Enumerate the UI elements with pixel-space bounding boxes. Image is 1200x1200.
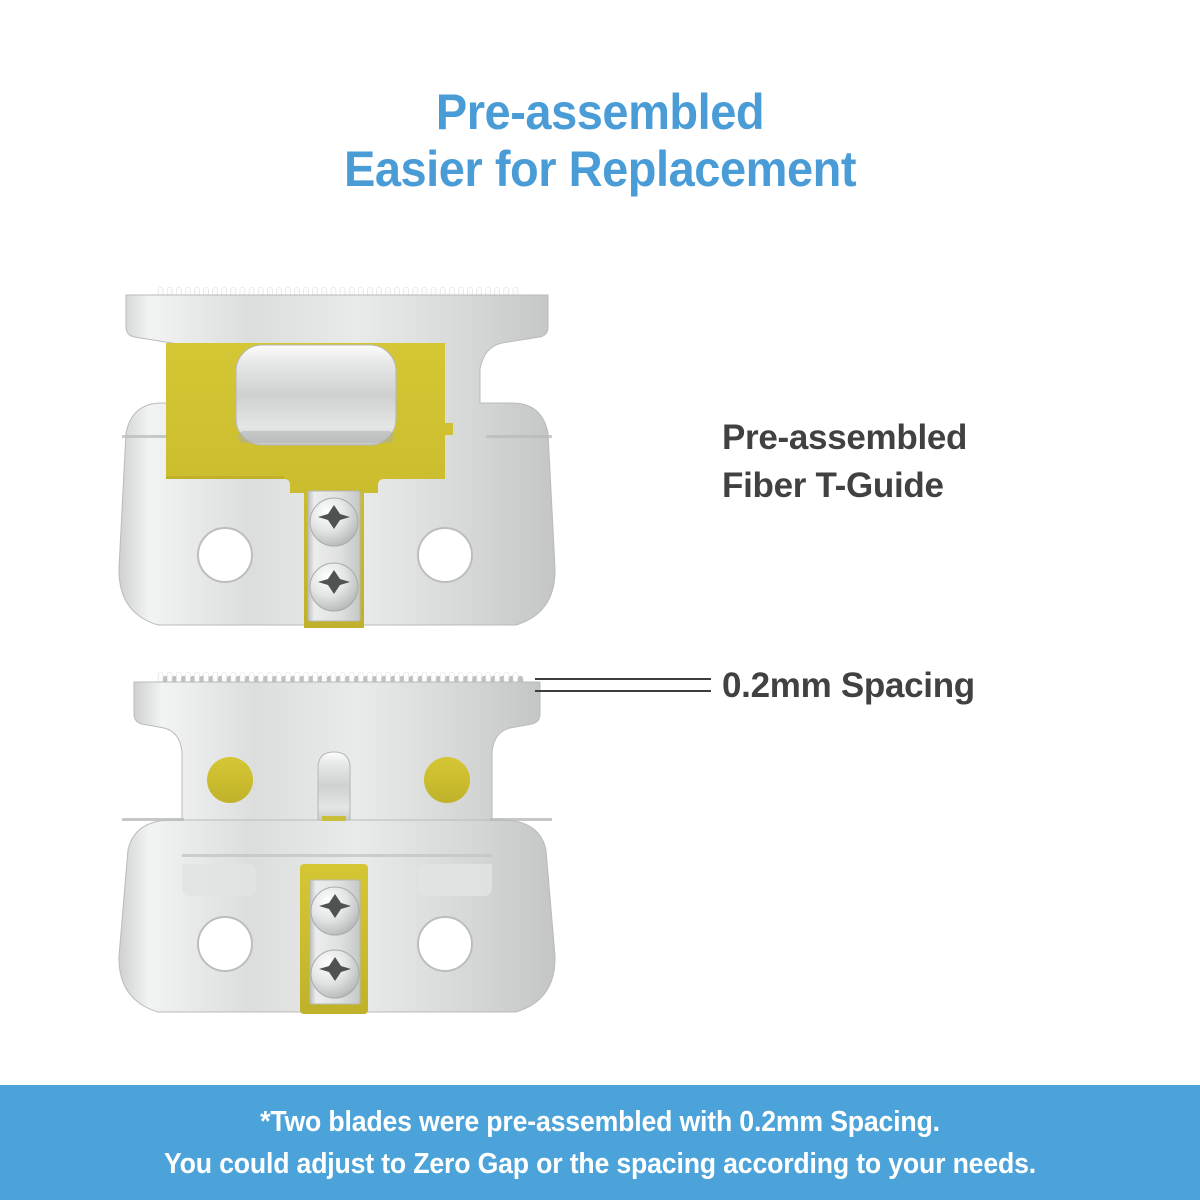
guide-edge-shadow	[166, 476, 284, 479]
seam-right	[490, 818, 552, 821]
page-title-line2: Easier for Replacement	[36, 141, 1164, 198]
seam-right	[486, 435, 552, 438]
yellow-dot-icon	[207, 757, 253, 803]
top-blade-assembly-image	[112, 283, 562, 643]
footer-line2: You could adjust to Zero Gap or the spac…	[48, 1143, 1152, 1185]
plate-overlap-seam	[182, 854, 492, 857]
callout-spacing: 0.2mm Spacing	[722, 662, 975, 710]
mount-hole-icon	[198, 528, 252, 582]
footer-line1: *Two blades were pre-assembled with 0.2m…	[48, 1101, 1152, 1143]
notch-left	[182, 864, 256, 896]
callout-tguide-line2: Fiber T-Guide	[722, 462, 967, 510]
yellow-dot-icon	[424, 757, 470, 803]
guide-window-cutout	[236, 345, 396, 445]
seam-left	[122, 818, 184, 821]
mount-hole-icon	[198, 917, 252, 971]
phillips-screw-icon	[311, 950, 359, 998]
center-tab	[318, 752, 350, 820]
mount-hole-icon	[418, 917, 472, 971]
notch-right	[418, 864, 492, 896]
window-inner-shadow	[238, 431, 394, 443]
center-tab-guide-peek	[322, 816, 346, 821]
leader-line-lower	[535, 690, 711, 692]
footer-banner: *Two blades were pre-assembled with 0.2m…	[0, 1085, 1200, 1200]
page-title-line1: Pre-assembled	[436, 84, 764, 140]
callout-fiber-t-guide: Pre-assembled Fiber T-Guide	[722, 414, 967, 510]
footer-banner-text: *Two blades were pre-assembled with 0.2m…	[48, 1101, 1152, 1185]
bottom-blade-assembly-image	[112, 668, 562, 1028]
phillips-screw-icon	[310, 498, 358, 546]
callout-tguide-line1: Pre-assembled	[722, 414, 967, 462]
phillips-screw-icon	[311, 887, 359, 935]
mount-hole-icon	[418, 528, 472, 582]
bottom-blade-illustration	[112, 668, 562, 1028]
infographic-canvas: Pre-assembled Easier for Replacement	[0, 0, 1200, 1200]
page-title: Pre-assembled Easier for Replacement	[36, 84, 1164, 198]
top-blade-illustration	[112, 283, 562, 643]
leader-line-upper	[535, 678, 711, 680]
phillips-screw-icon	[310, 563, 358, 611]
